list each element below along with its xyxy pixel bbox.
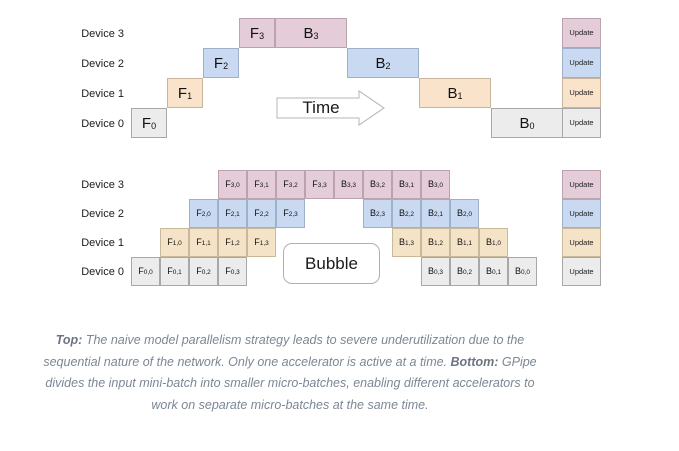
- device-label: Device 3: [56, 179, 124, 191]
- update-block: Update: [562, 108, 601, 138]
- backward-block: B1,1: [450, 228, 479, 257]
- device-label: Device 0: [56, 266, 124, 278]
- forward-block: F2,0: [189, 199, 218, 228]
- backward-block: B3,1: [392, 170, 421, 199]
- time-arrow-label: Time: [276, 98, 362, 118]
- backward-block: B3: [275, 18, 347, 48]
- gpipe-figure: Device 3F3B3UpdateDevice 2F2B2UpdateDevi…: [0, 0, 679, 451]
- forward-block: F1: [167, 78, 203, 108]
- forward-block: F2: [203, 48, 239, 78]
- backward-block: B1: [419, 78, 491, 108]
- forward-block: F3,2: [276, 170, 305, 199]
- backward-block: B1,3: [392, 228, 421, 257]
- backward-block: B2,2: [392, 199, 421, 228]
- backward-block: B3,2: [363, 170, 392, 199]
- forward-block: F0,1: [160, 257, 189, 286]
- figure-caption: Top: The naive model parallelism strateg…: [36, 330, 544, 416]
- device-label: Device 2: [56, 58, 124, 70]
- forward-block: F0: [131, 108, 167, 138]
- device-label: Device 1: [56, 88, 124, 100]
- update-block: Update: [562, 48, 601, 78]
- update-block: Update: [562, 18, 601, 48]
- backward-block: B2,0: [450, 199, 479, 228]
- forward-block: F3,0: [218, 170, 247, 199]
- forward-block: F3: [239, 18, 275, 48]
- forward-block: F3,3: [305, 170, 334, 199]
- backward-block: B1,0: [479, 228, 508, 257]
- update-block: Update: [562, 228, 601, 257]
- update-block: Update: [562, 78, 601, 108]
- forward-block: F2,3: [276, 199, 305, 228]
- forward-block: F2,1: [218, 199, 247, 228]
- backward-block: B1,2: [421, 228, 450, 257]
- backward-block: B0,2: [450, 257, 479, 286]
- backward-block: B2,1: [421, 199, 450, 228]
- bubble-box: Bubble: [283, 243, 380, 284]
- backward-block: B0,1: [479, 257, 508, 286]
- backward-block: B0,3: [421, 257, 450, 286]
- forward-block: F1,2: [218, 228, 247, 257]
- caption-emphasis: Top:: [56, 333, 83, 347]
- caption-emphasis: Bottom:: [451, 355, 499, 369]
- device-label: Device 1: [56, 237, 124, 249]
- forward-block: F0,3: [218, 257, 247, 286]
- device-label: Device 2: [56, 208, 124, 220]
- forward-block: F0,0: [131, 257, 160, 286]
- device-label: Device 3: [56, 28, 124, 40]
- forward-block: F1,3: [247, 228, 276, 257]
- time-arrow: Time: [276, 90, 386, 126]
- update-block: Update: [562, 170, 601, 199]
- forward-block: F2,2: [247, 199, 276, 228]
- forward-block: F3,1: [247, 170, 276, 199]
- backward-block: B0,0: [508, 257, 537, 286]
- backward-block: B3,0: [421, 170, 450, 199]
- update-block: Update: [562, 257, 601, 286]
- backward-block: B0: [491, 108, 563, 138]
- forward-block: F1,0: [160, 228, 189, 257]
- update-block: Update: [562, 199, 601, 228]
- backward-block: B3,3: [334, 170, 363, 199]
- backward-block: B2,3: [363, 199, 392, 228]
- forward-block: F1,1: [189, 228, 218, 257]
- device-label: Device 0: [56, 118, 124, 130]
- forward-block: F0,2: [189, 257, 218, 286]
- backward-block: B2: [347, 48, 419, 78]
